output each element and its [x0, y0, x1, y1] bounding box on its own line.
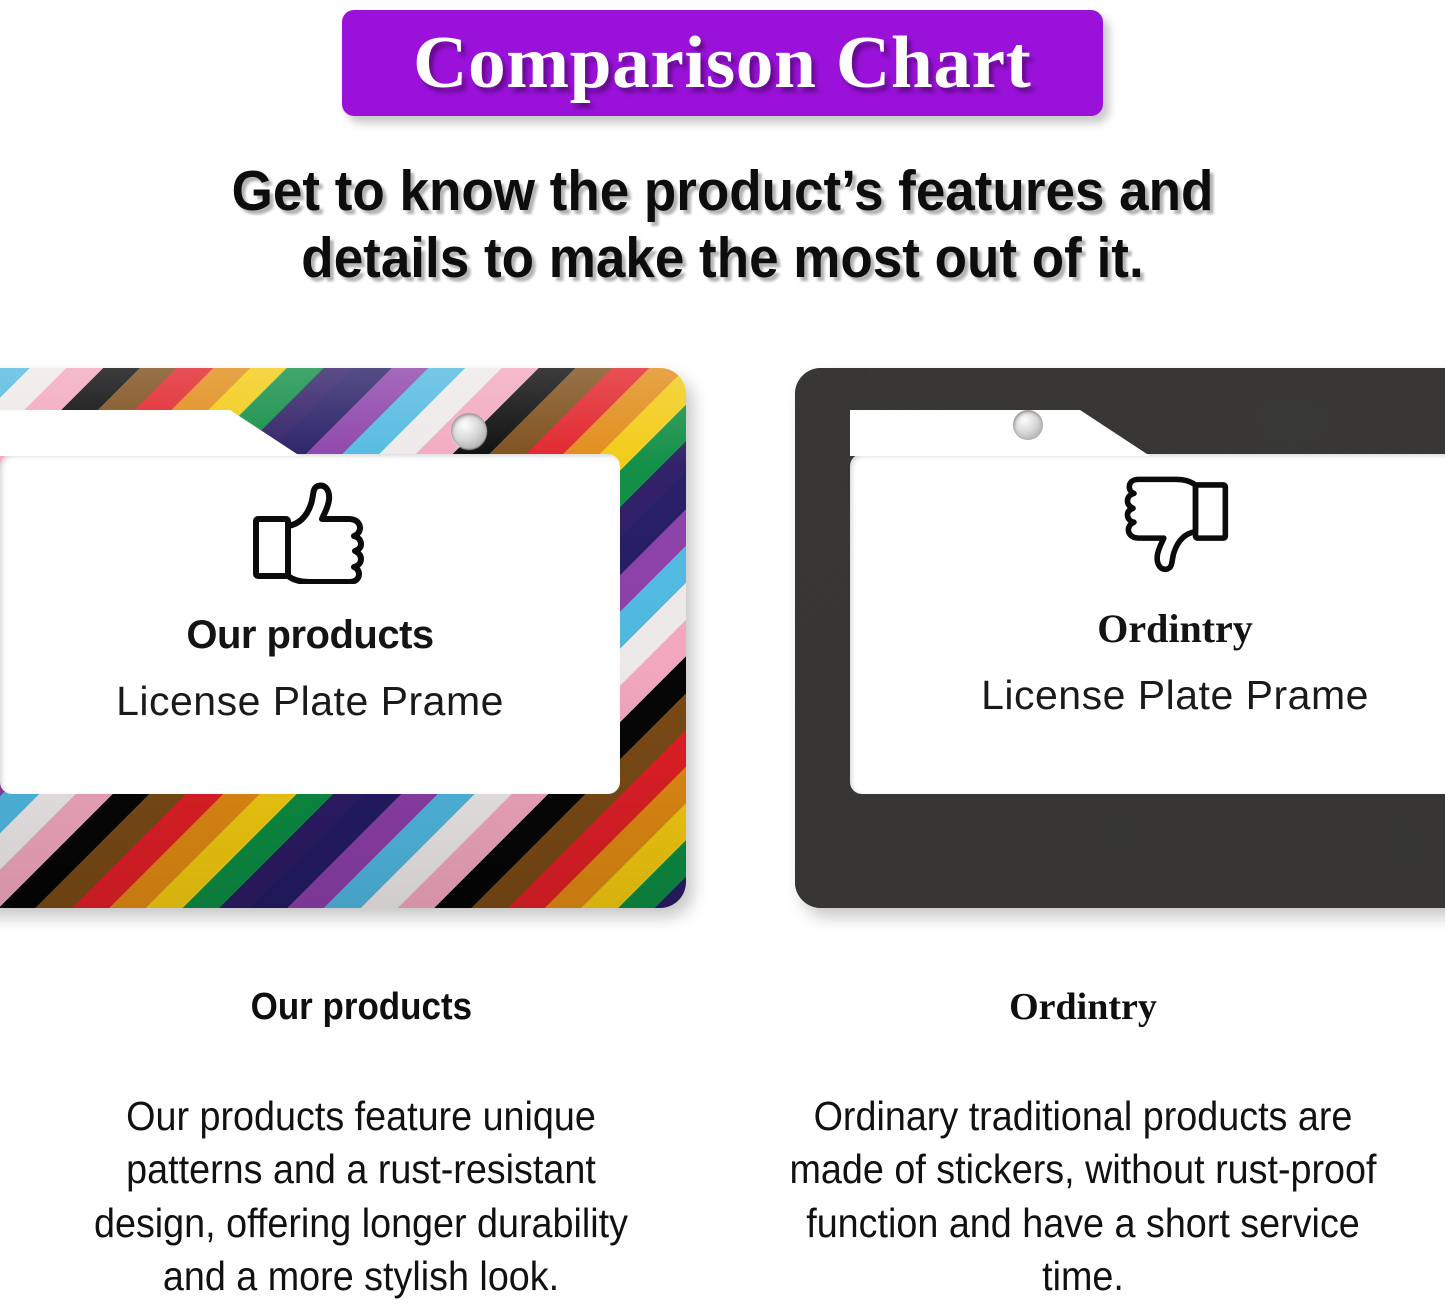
- plate-label-ours: Our products: [186, 613, 433, 658]
- thumbs-down-icon: [1120, 476, 1230, 581]
- column-body-ours: Our products feature unique patterns and…: [64, 1090, 658, 1303]
- comparison-column-ordinary: Ordintry Ordinary traditional products a…: [722, 988, 1444, 1314]
- column-heading-ordinary: Ordintry: [760, 988, 1406, 1026]
- plate-content-ordinary: Ordintry License Plate Prame: [850, 454, 1445, 794]
- plate-label-ordinary: Ordintry: [1097, 605, 1253, 652]
- comparison-chart-page: Comparison Chart Get to know the product…: [0, 0, 1445, 1314]
- column-heading-ours: Our products: [250, 988, 471, 1026]
- comparison-column-ours: Our products Our products feature unique…: [0, 988, 722, 1314]
- product-frame-ours: Our products License Plate Prame: [0, 368, 686, 908]
- screw-hole-icon: [1013, 410, 1043, 440]
- page-title: Comparison Chart: [413, 26, 1031, 100]
- title-banner: Comparison Chart: [342, 10, 1103, 116]
- title-banner-background: Comparison Chart: [342, 10, 1103, 116]
- comparison-columns: Our products Our products feature unique…: [0, 988, 1445, 1314]
- plate-sublabel-ordinary: License Plate Prame: [981, 672, 1369, 719]
- page-subtitle: Get to know the product’s features and d…: [51, 158, 1395, 291]
- subtitle-line-2: details to make the most out of it.: [51, 225, 1395, 292]
- thumbs-up-icon: [251, 480, 369, 589]
- column-body-ordinary: Ordinary traditional products are made o…: [786, 1090, 1380, 1303]
- plate-sublabel-ours: License Plate Prame: [116, 678, 504, 725]
- product-frame-ordinary: Ordintry License Plate Prame: [795, 368, 1445, 908]
- plate-content-ours: Our products License Plate Prame: [0, 454, 620, 794]
- subtitle-line-1: Get to know the product’s features and: [51, 158, 1395, 225]
- screw-hole-icon: [451, 413, 487, 449]
